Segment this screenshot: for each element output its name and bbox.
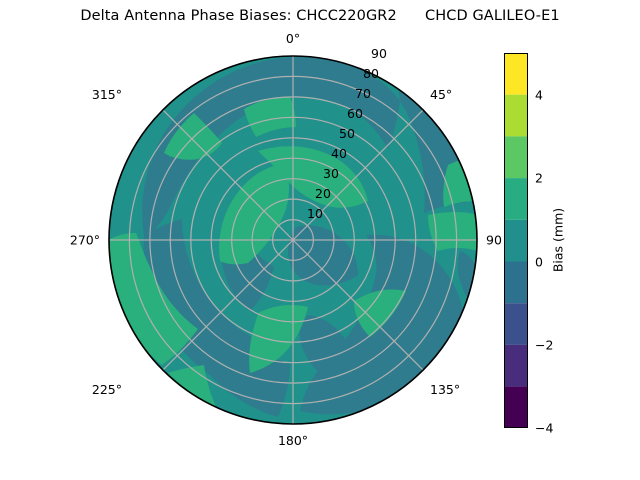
colorbar-tick-4: 4	[535, 87, 543, 102]
polar-plot-svg	[108, 55, 478, 425]
polar-axes[interactable]: 0° 45° 90 135° 180° 225° 270° 315° 10 20…	[108, 55, 478, 425]
angular-label-315: 315°	[92, 87, 122, 102]
radial-label-20: 20	[315, 186, 331, 201]
radial-label-40: 40	[331, 146, 347, 161]
polar-angular-gridlines	[109, 56, 477, 424]
angular-label-90: 90	[486, 233, 502, 248]
colorbar-axis-label: Bias (mm)	[551, 208, 566, 272]
radial-label-70: 70	[355, 86, 371, 101]
angular-label-45: 45°	[430, 87, 452, 102]
radial-label-60: 60	[347, 106, 363, 121]
page-title: Delta Antenna Phase Biases: CHCC220GR2 C…	[0, 8, 640, 24]
colorbar-tick-0: 0	[535, 254, 543, 269]
colorbar-tick-2: 2	[535, 171, 543, 186]
angular-label-270: 270°	[70, 233, 100, 248]
radial-label-30: 30	[323, 166, 339, 181]
colorbar[interactable]	[504, 53, 528, 428]
angular-label-135: 135°	[430, 382, 460, 397]
angular-label-180: 180°	[278, 433, 308, 448]
radial-label-10: 10	[307, 206, 323, 221]
figure-canvas: Delta Antenna Phase Biases: CHCC220GR2 C…	[0, 0, 640, 480]
radial-label-90: 90	[371, 46, 387, 61]
angular-label-0: 0°	[286, 31, 300, 46]
radial-label-50: 50	[339, 126, 355, 141]
colorbar-gradient	[504, 53, 528, 428]
colorbar-tick-minus-4: −4	[535, 421, 553, 436]
colorbar-tick-minus-2: −2	[535, 337, 553, 352]
radial-label-80: 80	[363, 66, 379, 81]
angular-label-225: 225°	[92, 382, 122, 397]
